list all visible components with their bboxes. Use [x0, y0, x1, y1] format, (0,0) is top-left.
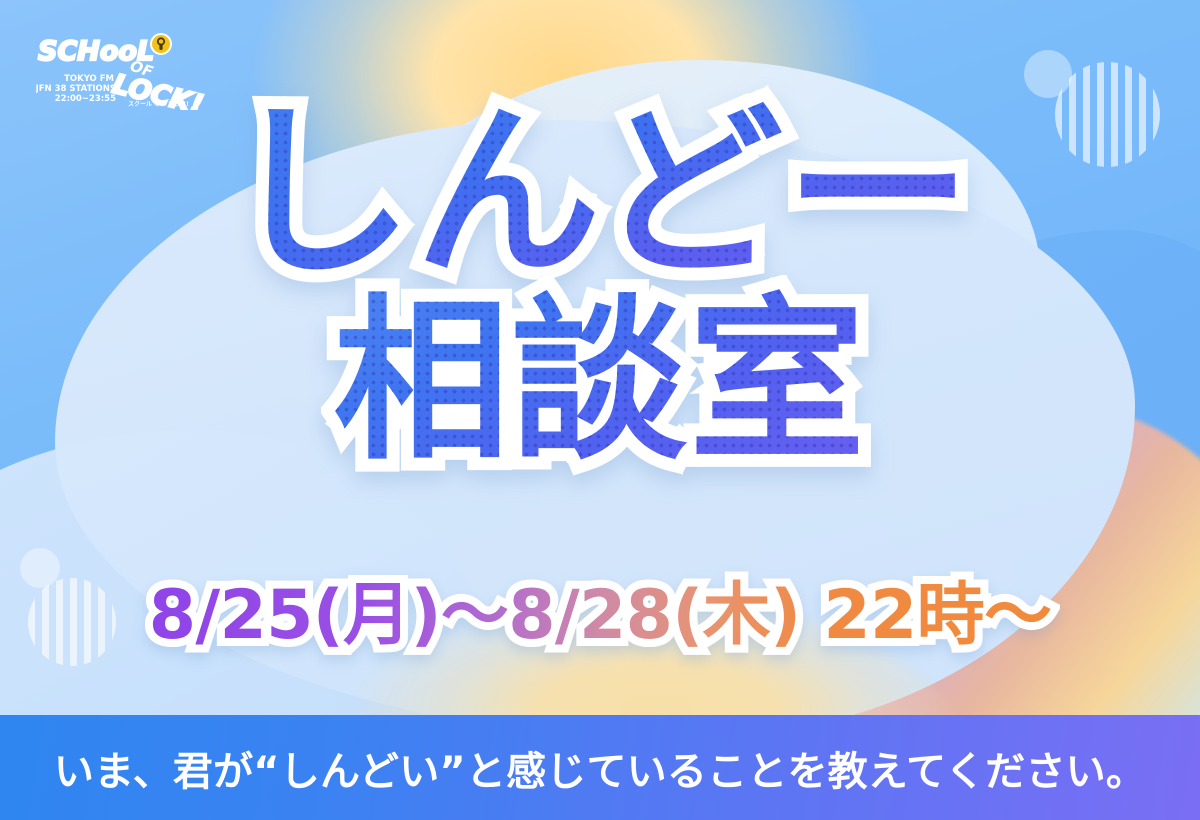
logo-reading: スクール オブ ロック!: [128, 100, 189, 108]
banner-message: いま、君が“しんどい”と感じていることを教えてください。: [54, 739, 1146, 797]
logo-station: TOKYO FM: [64, 74, 114, 84]
date-text: 8/25(月)～8/28(木) 22時～ 8/25(月)～8/28(木) 22時…: [149, 580, 1052, 651]
date-line: 8/25(月)～8/28(木) 22時～ 8/25(月)～8/28(木) 22時…: [0, 580, 1200, 651]
date-text-fill: 8/25(月)～8/28(木) 22時～: [149, 576, 1052, 655]
decor-circle-striped-top: [1055, 62, 1160, 167]
logo-network: JFN 38 STATIONS: [36, 84, 116, 94]
bottom-banner: いま、君が“しんどい”と感じていることを教えてください。: [0, 715, 1200, 820]
logo-airtime: 22:00~23:55: [55, 94, 116, 104]
poster-canvas: SCHooL OF LOCK! TOKYO FM JFN 38 STATIONS…: [0, 0, 1200, 820]
lock-badge-icon: [150, 33, 172, 55]
school-of-lock-logo[interactable]: SCHooL OF LOCK! TOKYO FM JFN 38 STATIONS…: [36, 30, 206, 110]
